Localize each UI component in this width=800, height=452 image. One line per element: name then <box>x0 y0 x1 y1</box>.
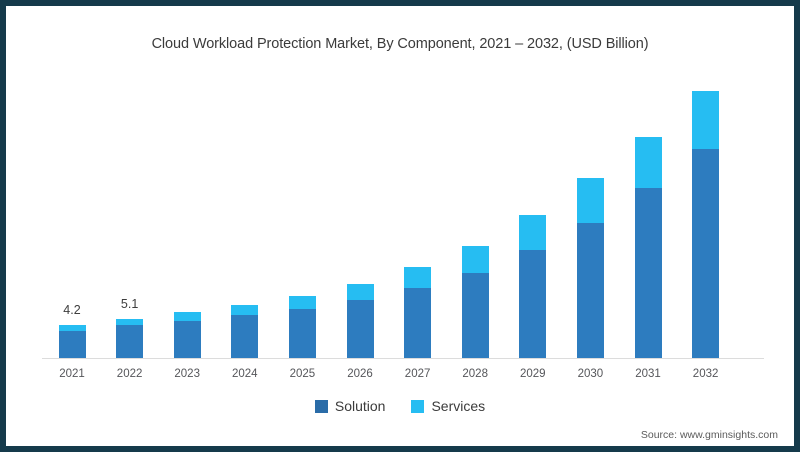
bar-group-2021[interactable] <box>59 325 86 358</box>
bar-group-2022[interactable] <box>116 319 143 358</box>
x-axis-tick-2023: 2023 <box>157 368 217 380</box>
bar-group-2030[interactable] <box>577 178 604 358</box>
bar-segment-services-2023[interactable] <box>174 312 201 321</box>
bar-group-2023[interactable] <box>174 312 201 358</box>
bar-group-2025[interactable] <box>289 296 316 358</box>
legend-swatch-services <box>411 400 424 413</box>
bar-segment-services-2030[interactable] <box>577 178 604 223</box>
x-axis-tick-2022: 2022 <box>100 368 160 380</box>
chart-legend: Solution Services <box>6 398 794 414</box>
legend-label-services: Services <box>431 398 485 414</box>
bar-group-2032[interactable] <box>692 91 719 358</box>
bar-segment-solution-2021[interactable] <box>59 331 86 358</box>
x-axis-tick-2028: 2028 <box>445 368 505 380</box>
x-axis-line <box>42 358 764 359</box>
bar-segment-solution-2030[interactable] <box>577 223 604 358</box>
bar-segment-services-2029[interactable] <box>519 215 546 250</box>
x-axis-tick-2024: 2024 <box>215 368 275 380</box>
x-axis-tick-2021: 2021 <box>42 368 102 380</box>
bar-segment-solution-2024[interactable] <box>231 315 258 358</box>
x-axis-tick-2032: 2032 <box>676 368 736 380</box>
x-axis-tick-2025: 2025 <box>272 368 332 380</box>
bar-segment-solution-2023[interactable] <box>174 321 201 358</box>
chart-canvas: Cloud Workload Protection Market, By Com… <box>6 6 794 446</box>
bar-segment-solution-2028[interactable] <box>462 273 489 358</box>
x-axis-tick-2029: 2029 <box>503 368 563 380</box>
legend-label-solution: Solution <box>335 398 386 414</box>
bar-value-label-2022: 5.1 <box>100 297 160 311</box>
bar-segment-services-2028[interactable] <box>462 246 489 273</box>
x-axis-tick-2031: 2031 <box>618 368 678 380</box>
bar-segment-solution-2031[interactable] <box>635 188 662 358</box>
bar-segment-solution-2025[interactable] <box>289 309 316 358</box>
bar-group-2026[interactable] <box>347 284 374 358</box>
bar-group-2031[interactable] <box>635 137 662 358</box>
bar-value-label-2021: 4.2 <box>42 303 102 317</box>
x-axis-tick-2030: 2030 <box>560 368 620 380</box>
bar-segment-solution-2032[interactable] <box>692 149 719 358</box>
legend-item-solution[interactable]: Solution <box>315 398 386 414</box>
bar-segment-services-2025[interactable] <box>289 296 316 309</box>
x-axis-tick-2026: 2026 <box>330 368 390 380</box>
bar-segment-solution-2027[interactable] <box>404 288 431 358</box>
bar-segment-services-2024[interactable] <box>231 305 258 316</box>
bar-group-2028[interactable] <box>462 246 489 358</box>
bar-group-2029[interactable] <box>519 215 546 358</box>
bar-segment-solution-2026[interactable] <box>347 300 374 358</box>
bar-group-2024[interactable] <box>231 305 258 358</box>
bar-segment-services-2031[interactable] <box>635 137 662 187</box>
bar-segment-solution-2029[interactable] <box>519 250 546 358</box>
bar-segment-services-2026[interactable] <box>347 284 374 299</box>
bar-segment-services-2027[interactable] <box>404 267 431 288</box>
bar-group-2027[interactable] <box>404 267 431 358</box>
bar-segment-solution-2022[interactable] <box>116 325 143 358</box>
x-axis-tick-2027: 2027 <box>388 368 448 380</box>
chart-frame: Cloud Workload Protection Market, By Com… <box>0 0 800 452</box>
legend-swatch-solution <box>315 400 328 413</box>
source-caption: Source: www.gminsights.com <box>641 429 778 441</box>
bar-segment-services-2032[interactable] <box>692 91 719 149</box>
legend-item-services[interactable]: Services <box>411 398 485 414</box>
bar-segment-services-2022[interactable] <box>116 319 143 326</box>
page-title: Cloud Workload Protection Market, By Com… <box>6 36 794 52</box>
